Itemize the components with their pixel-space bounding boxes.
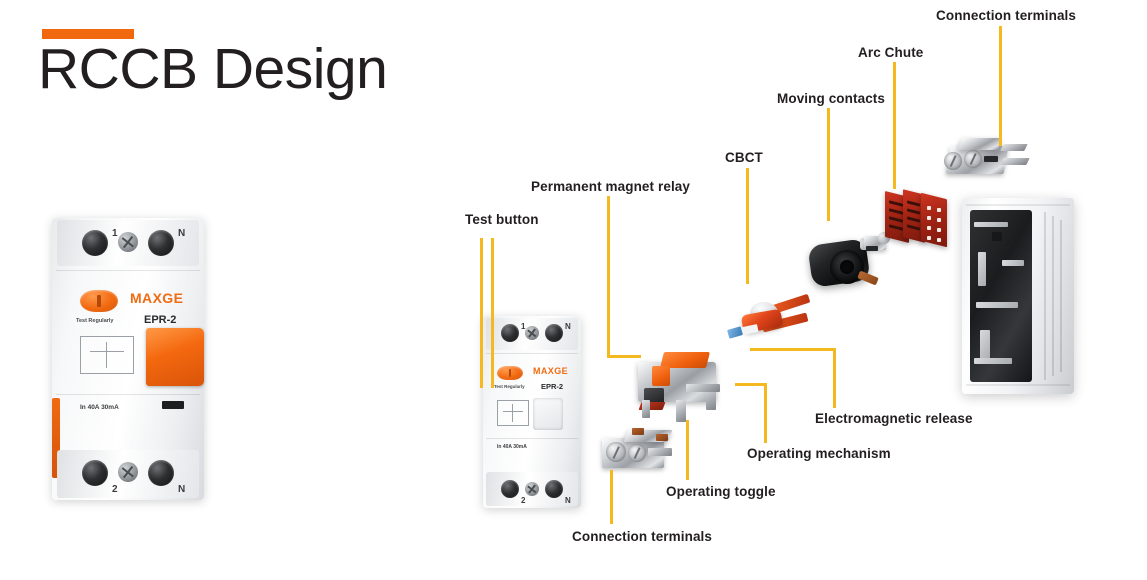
terminal-mark-2: 2 — [112, 484, 118, 495]
page-title: RCCB Design — [38, 38, 387, 101]
wiring-schematic — [497, 400, 529, 426]
terminal-tab-lower — [1000, 158, 1029, 165]
toggle-screw-left — [606, 442, 626, 462]
cbct-aperture — [840, 260, 854, 274]
rccb-assembled-product: 1 N Test Regularly MAXGE EPR-2 In 40A 30… — [52, 218, 204, 500]
callout-arc-chute: Arc Chute — [858, 45, 923, 60]
diagram-canvas: RCCB Design 1 N Test Regularly MAXGE EPR… — [0, 0, 1147, 580]
callout-test-button: Test button — [465, 212, 539, 227]
terminal-mark-1: 1 — [112, 228, 118, 239]
terminal-hole-n-top — [545, 324, 563, 342]
connection-terminals-top-part — [938, 136, 1034, 188]
cavity-rib-6 — [974, 358, 1012, 364]
arc-plate-front — [921, 193, 947, 247]
test-button-label: Test Regularly — [494, 384, 525, 389]
wiring-schematic — [80, 336, 134, 374]
rating-window — [162, 401, 184, 409]
mechanism-orange-link — [652, 366, 670, 386]
terminal-hole-1 — [82, 230, 108, 256]
leader-arc-chute — [893, 62, 896, 189]
terminal-cap-top — [958, 138, 1003, 150]
terminal-mark-n-bottom: N — [178, 484, 185, 495]
rating-label: In 40A 30mA — [497, 444, 527, 450]
shell-fin-2 — [1052, 216, 1054, 376]
terminal-mark-n-top: N — [565, 322, 571, 331]
leader-connection-terminals-top — [999, 26, 1002, 146]
mechanism-bracket — [686, 384, 720, 392]
terminal-slot — [984, 156, 998, 162]
shell-step-bottom — [966, 384, 1070, 386]
arc-plate-front-hole-8 — [937, 238, 941, 242]
terminal-screw-b — [964, 150, 982, 168]
model-label: EPR-2 — [541, 382, 563, 391]
cavity-mount-hole — [992, 232, 1002, 241]
leader-electromagnetic-release-h — [750, 348, 836, 351]
toggle-leg — [648, 448, 672, 456]
terminal-tab-upper — [1000, 144, 1027, 151]
cavity-rib-2 — [978, 252, 986, 286]
arc-plate-front-hole-7 — [927, 236, 931, 240]
terminal-screw-top — [525, 326, 539, 340]
test-button[interactable] — [80, 290, 118, 312]
test-button[interactable] — [497, 366, 523, 380]
terminal-screw-bottom — [118, 462, 138, 482]
callout-moving-contacts: Moving contacts — [777, 91, 885, 106]
electromagnetic-release-part — [728, 298, 814, 350]
rccb-body-seam-top — [486, 353, 578, 354]
leader-operating-toggle — [686, 420, 689, 480]
terminal-screw-a — [944, 152, 962, 170]
shell-fin-1 — [1044, 212, 1046, 380]
rccb-body-seam-mid — [486, 438, 578, 439]
leader-moving-contacts — [827, 108, 830, 221]
rccb-seam-top — [56, 270, 200, 271]
arc-plate-front-hole-6 — [937, 228, 941, 232]
leader-test-button-a — [480, 238, 483, 388]
toggle-copper-right — [656, 434, 668, 441]
leader-connection-terminals-bottom — [610, 470, 613, 524]
leader-electromagnetic-release-v — [833, 348, 836, 408]
cavity-rib-1 — [974, 222, 1008, 227]
terminal-hole-n-top — [148, 230, 174, 256]
model-label: EPR-2 — [144, 314, 176, 326]
leader-permanent-magnet-relay-h — [607, 355, 641, 358]
test-button-label: Test Regularly — [76, 318, 114, 324]
leader-operating-mechanism-h — [735, 383, 767, 386]
mechanism-leg-left — [642, 400, 650, 418]
toggle-cavity — [533, 398, 563, 430]
rccb-body-no-toggle: 1 N Test Regularly MAXGE EPR-2 In 40A 30… — [483, 316, 581, 508]
operating-mechanism-part — [628, 348, 738, 426]
arc-plate-front-hole-1 — [927, 206, 931, 210]
terminal-mark-n-top: N — [178, 228, 185, 239]
toggle-screw-right — [628, 444, 646, 462]
callout-cbct: CBCT — [725, 150, 763, 165]
terminal-mark-2: 2 — [521, 496, 525, 505]
callout-operating-toggle: Operating toggle — [666, 484, 776, 499]
callout-electromagnetic-release: Electromagnetic release — [815, 411, 973, 426]
leader-test-button-b — [491, 238, 494, 388]
arc-plate-front-hole-2 — [937, 208, 941, 212]
operating-toggle-lever[interactable] — [146, 328, 204, 386]
cavity-rib-4 — [976, 302, 1018, 308]
shell-fin-3 — [1060, 220, 1062, 372]
brand-logo: MAXGE — [130, 290, 183, 306]
arc-chute-part — [885, 188, 955, 254]
leader-cbct — [746, 168, 749, 284]
cavity-rib-5 — [980, 330, 990, 360]
callout-operating-mechanism: Operating mechanism — [747, 446, 891, 461]
terminal-hole-2 — [501, 480, 519, 498]
leader-permanent-magnet-relay-v — [607, 196, 610, 355]
cbct-lead-wire — [857, 271, 879, 286]
rccb-seam-mid — [56, 394, 200, 395]
callout-connection-terminals-top: Connection terminals — [936, 8, 1076, 23]
terminal-hole-n-bottom — [545, 480, 563, 498]
terminal-mark-1: 1 — [521, 322, 525, 331]
terminal-screw-bottom — [525, 482, 539, 496]
terminal-hole-1 — [501, 324, 519, 342]
terminal-screw-top — [118, 232, 138, 252]
rating-label: In 40A 30mA — [80, 404, 119, 411]
release-terminal — [727, 326, 743, 339]
toggle-copper-left — [632, 428, 644, 435]
terminal-hole-2 — [82, 460, 108, 486]
terminal-hole-n-bottom — [148, 460, 174, 486]
arc-plate-front-hole-4 — [937, 218, 941, 222]
moving-contact-tip — [866, 246, 878, 251]
operating-toggle-part — [596, 424, 682, 480]
callout-permanent-magnet-relay: Permanent magnet relay — [531, 179, 690, 194]
arc-plate-front-hole-5 — [927, 226, 931, 230]
leader-operating-mechanism-v — [764, 383, 767, 443]
terminal-mark-n-bottom: N — [565, 496, 571, 505]
callout-connection-terminals-bottom: Connection terminals — [572, 529, 712, 544]
arc-plate-front-hole-3 — [927, 216, 931, 220]
mechanism-leg-mid — [676, 400, 686, 422]
cavity-rib-3 — [1002, 260, 1024, 266]
brand-logo: MAXGE — [533, 366, 568, 376]
housing-shell-part — [962, 198, 1074, 394]
shell-step-top — [966, 204, 1070, 206]
